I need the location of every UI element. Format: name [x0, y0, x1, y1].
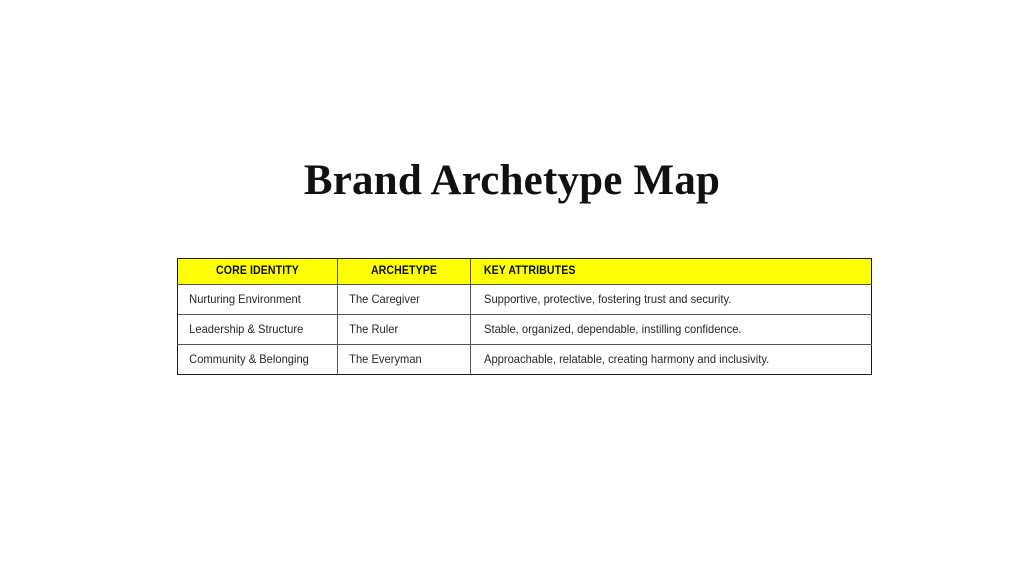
cell-key-attributes: Stable, organized, dependable, instillin…	[471, 315, 872, 345]
column-header-archetype-label: ARCHETYPE	[343, 259, 464, 284]
cell-key-attributes-text: Stable, organized, dependable, instillin…	[471, 315, 843, 344]
cell-key-attributes-text: Supportive, protective, fostering trust …	[471, 285, 843, 314]
table-body: Nurturing Environment The Caregiver Supp…	[178, 285, 872, 375]
cell-archetype-text: The Ruler	[338, 315, 461, 344]
brand-archetype-table: CORE IDENTITY ARCHETYPE KEY ATTRIBUTES N…	[177, 258, 872, 375]
table-header-row: CORE IDENTITY ARCHETYPE KEY ATTRIBUTES	[178, 259, 872, 285]
cell-core-identity-text: Leadership & Structure	[178, 315, 326, 344]
cell-core-identity: Nurturing Environment	[178, 285, 338, 315]
cell-archetype: The Caregiver	[338, 285, 471, 315]
cell-core-identity: Leadership & Structure	[178, 315, 338, 345]
page-title: Brand Archetype Map	[0, 155, 1024, 207]
cell-archetype-text: The Caregiver	[338, 285, 461, 314]
table-row: Nurturing Environment The Caregiver Supp…	[178, 285, 872, 315]
cell-core-identity: Community & Belonging	[178, 345, 338, 375]
archetype-table-container: CORE IDENTITY ARCHETYPE KEY ATTRIBUTES N…	[177, 258, 871, 375]
cell-key-attributes: Supportive, protective, fostering trust …	[471, 285, 872, 315]
column-header-core-identity: CORE IDENTITY	[178, 259, 338, 285]
column-header-core-identity-label: CORE IDENTITY	[184, 259, 330, 284]
column-header-key-attributes: KEY ATTRIBUTES	[471, 259, 872, 285]
cell-core-identity-text: Nurturing Environment	[178, 285, 326, 314]
cell-core-identity-text: Community & Belonging	[178, 345, 326, 374]
column-header-archetype: ARCHETYPE	[338, 259, 471, 285]
table-row: Community & Belonging The Everyman Appro…	[178, 345, 872, 375]
slide-canvas: Brand Archetype Map CORE IDENTITY ARCHET…	[0, 0, 1024, 576]
cell-archetype: The Everyman	[338, 345, 471, 375]
cell-archetype-text: The Everyman	[338, 345, 461, 374]
cell-key-attributes: Approachable, relatable, creating harmon…	[471, 345, 872, 375]
table-header: CORE IDENTITY ARCHETYPE KEY ATTRIBUTES	[178, 259, 872, 285]
column-header-key-attributes-label: KEY ATTRIBUTES	[471, 259, 839, 284]
table-row: Leadership & Structure The Ruler Stable,…	[178, 315, 872, 345]
cell-archetype: The Ruler	[338, 315, 471, 345]
cell-key-attributes-text: Approachable, relatable, creating harmon…	[471, 345, 843, 374]
